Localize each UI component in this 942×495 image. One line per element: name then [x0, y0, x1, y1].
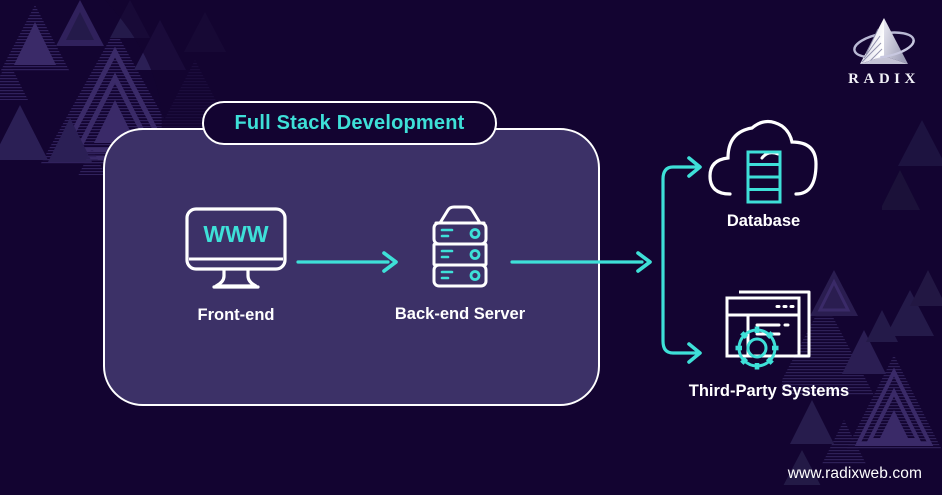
- node-label-database: Database: [727, 212, 800, 231]
- arrow-split-bracket: [655, 155, 709, 365]
- site-url: www.radixweb.com: [788, 465, 922, 483]
- diagram-title-text: Full Stack Development: [234, 112, 464, 135]
- monitor-screen-text: WWW: [203, 221, 268, 247]
- arrow-frontend-to-backend: [296, 248, 404, 276]
- triangle-pattern-mid-right: [882, 120, 942, 240]
- node-label-back-end-server: Back-end Server: [395, 305, 525, 324]
- diagram-canvas: Full Stack Development WWW Front-end: [0, 0, 942, 495]
- arrow-backend-to-junction: [510, 248, 658, 276]
- node-database: Database: [686, 110, 841, 231]
- diagram-title-badge: Full Stack Development: [202, 101, 497, 145]
- desktop-monitor-icon: WWW: [183, 206, 289, 296]
- node-label-third-party-systems: Third-Party Systems: [689, 382, 849, 401]
- windows-gear-icon: [713, 278, 825, 370]
- radix-logo-text: RADIX: [838, 71, 930, 88]
- radix-pyramid-logo-icon: [838, 12, 930, 70]
- cloud-database-icon: [704, 110, 824, 204]
- radix-logo: RADIX: [838, 12, 930, 90]
- node-label-front-end: Front-end: [198, 306, 275, 325]
- server-rack-icon: [414, 205, 506, 293]
